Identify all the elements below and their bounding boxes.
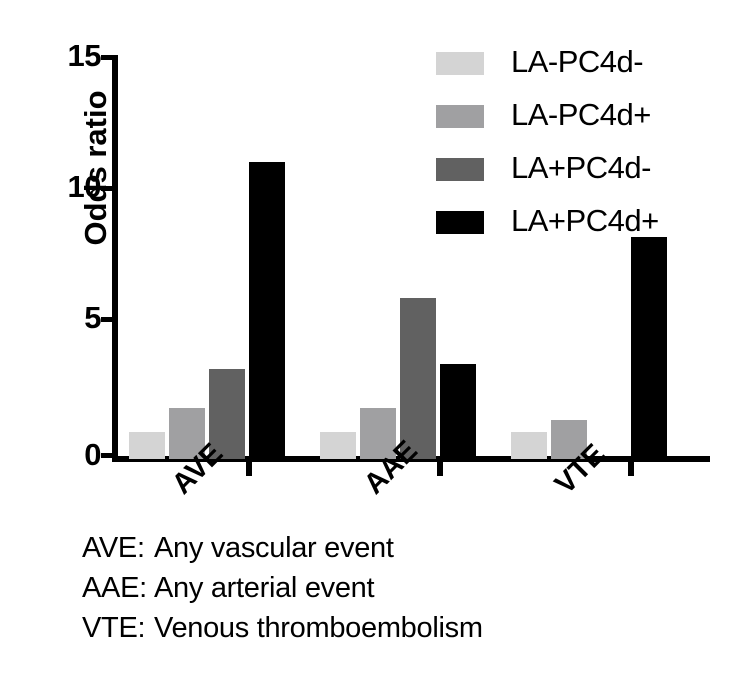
legend-swatch-icon xyxy=(436,158,484,181)
footnote-abbr: AVE: xyxy=(82,528,154,568)
bar-vte-lapc4d xyxy=(631,237,667,459)
footnote-text: Any arterial event xyxy=(154,568,374,608)
footnote-row: VTE:Venous thromboembolism xyxy=(82,608,722,648)
y-tick-label-5: 5 xyxy=(84,302,101,333)
x-tick-mark-aae xyxy=(437,462,443,476)
x-tick-mark-ave xyxy=(246,462,252,476)
legend-item: LA+PC4d+ xyxy=(436,203,736,256)
legend-item-label: LA-PC4d- xyxy=(511,41,643,83)
y-tick-label-10: 10 xyxy=(68,171,101,202)
footnote-text: Any vascular event xyxy=(154,528,394,568)
legend: LA-PC4d- LA-PC4d+ LA+PC4d- LA+PC4d+ xyxy=(436,44,736,256)
bar-vte-lapc4d xyxy=(511,432,547,459)
y-tick-label-15: 15 xyxy=(68,40,101,71)
footnote-list: AVE:Any vascular event AAE:Any arterial … xyxy=(82,528,722,648)
footnote-text: Venous thromboembolism xyxy=(154,608,483,648)
bar-ave-lapc4d xyxy=(129,432,165,459)
bar-ave-lapc4d xyxy=(249,162,285,459)
bar-aae-lapc4d xyxy=(320,432,356,459)
bar-aae-lapc4d xyxy=(400,298,436,459)
footnote-row: AAE:Any arterial event xyxy=(82,568,722,608)
y-tick-mark-15 xyxy=(101,55,112,60)
bar-aae-lapc4d xyxy=(440,364,476,459)
y-tick-mark-10 xyxy=(101,186,112,191)
legend-item-label: LA-PC4d+ xyxy=(511,94,651,136)
footnote-abbr: AAE: xyxy=(82,568,154,608)
legend-swatch-icon xyxy=(436,105,484,128)
legend-item: LA-PC4d+ xyxy=(436,97,736,150)
legend-item: LA+PC4d- xyxy=(436,150,736,203)
legend-item-label: LA+PC4d+ xyxy=(511,200,659,242)
legend-swatch-icon xyxy=(436,211,484,234)
y-tick-label-0: 0 xyxy=(84,439,101,470)
legend-swatch-icon xyxy=(436,52,484,75)
legend-item-label: LA+PC4d- xyxy=(511,147,651,189)
footnote-row: AVE:Any vascular event xyxy=(82,528,722,568)
y-axis-title: Odds ratio xyxy=(78,58,114,278)
y-tick-mark-0 xyxy=(101,453,112,458)
legend-item: LA-PC4d- xyxy=(436,44,736,97)
figure-bar-chart: Odds ratio 15 10 5 0 AVE AAE VTE xyxy=(0,0,746,676)
footnote-abbr: VTE: xyxy=(82,608,154,648)
x-tick-mark-vte xyxy=(628,462,634,476)
y-tick-mark-5 xyxy=(101,317,112,322)
